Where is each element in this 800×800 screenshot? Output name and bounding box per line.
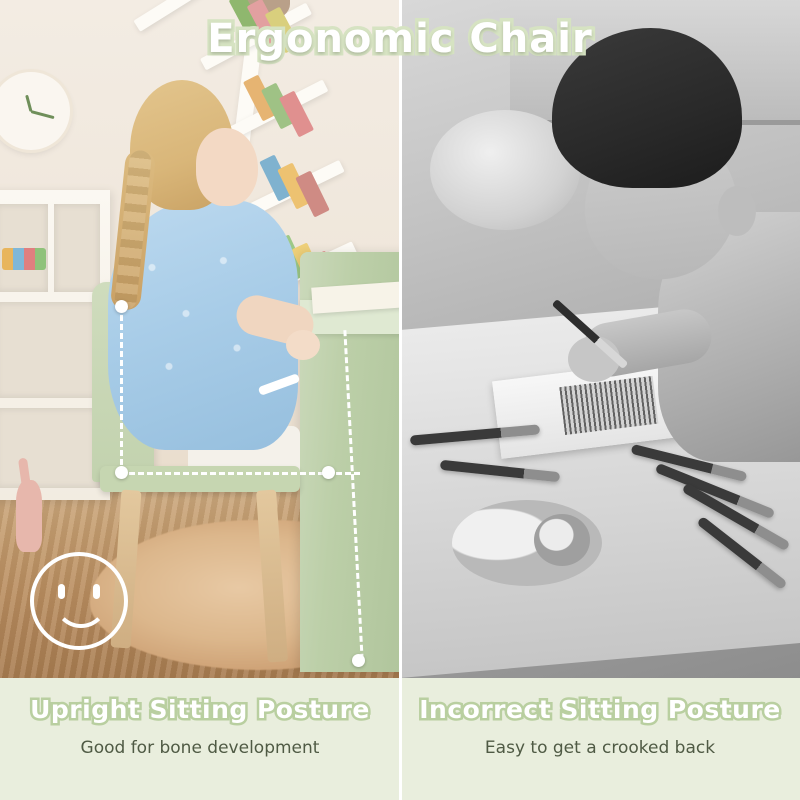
shelf-cell (54, 204, 100, 292)
product-comparison-image: Ergonomic Chair Upright Sitting Posture … (0, 0, 800, 800)
shelf-cell (0, 302, 100, 398)
giraffe-toy (16, 480, 42, 552)
panel-divider (399, 0, 402, 678)
caption-title-right: Incorrect Sitting Posture (400, 695, 800, 724)
toy-blocks (2, 248, 46, 270)
panel-correct-posture (0, 0, 400, 678)
caption-title-left: Upright Sitting Posture (0, 695, 400, 724)
posture-guide-dot (352, 654, 365, 667)
caption-correct-posture: Upright Sitting Posture Good for bone de… (0, 678, 400, 800)
happy-face-icon (30, 552, 128, 650)
chair-seat (100, 466, 300, 492)
posture-guide-dot (115, 300, 128, 313)
caption-subtitle-right: Easy to get a crooked back (400, 738, 800, 758)
caption-subtitle-left: Good for bone development (0, 738, 400, 758)
paint-palette (452, 500, 602, 586)
caption-divider (399, 678, 402, 800)
panel-incorrect-posture (400, 0, 800, 678)
page-title: Ergonomic Chair (0, 16, 800, 62)
child-hand (286, 330, 320, 360)
child-face (196, 128, 258, 206)
posture-guide-dot (115, 466, 128, 479)
posture-guide-dot (322, 466, 335, 479)
caption-incorrect-posture: Incorrect Sitting Posture Easy to get a … (400, 678, 800, 800)
happy-face-mouth (54, 594, 108, 628)
posture-guide-vertical (120, 306, 123, 474)
child-ear (718, 186, 756, 236)
shelf-cell (0, 408, 100, 488)
